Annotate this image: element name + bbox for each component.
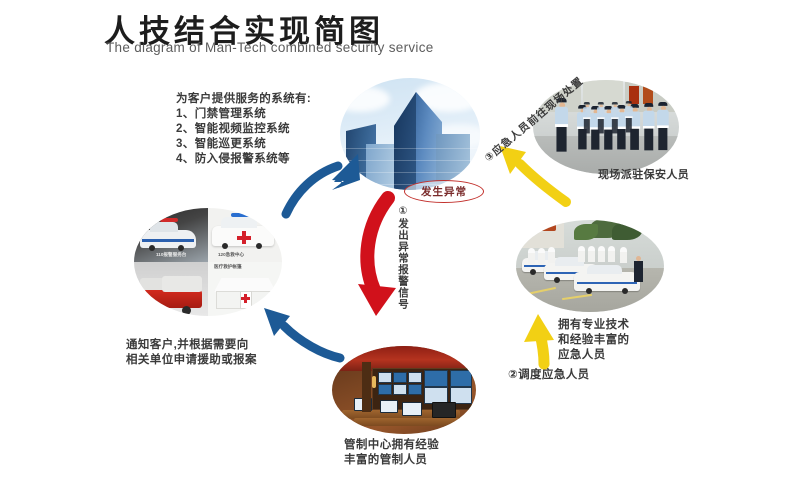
guards-caption: 现场派驻保安人员 bbox=[598, 168, 689, 183]
blue-arrow-to-emergency bbox=[256, 296, 346, 366]
diagram-canvas: 人技结合实现简图 The diagram of Man-Tech combine… bbox=[0, 0, 802, 477]
step2-label: ②调度应急人员 bbox=[508, 368, 590, 383]
patrol-cars-photo bbox=[516, 220, 664, 312]
emergency-caption: 通知客户,并根据需要向 相关单位申请援助或报案 bbox=[126, 338, 257, 368]
yellow-arrow-dispatch bbox=[510, 300, 580, 370]
page-subtitle-english: The diagram of Man-Tech combined securit… bbox=[106, 40, 434, 55]
red-arrow-alarm-signal bbox=[352, 192, 422, 322]
step1-label: ①发出异常报警信号 bbox=[396, 205, 411, 310]
control-center-photo bbox=[332, 346, 476, 434]
control-caption: 管制中心拥有经验 丰富的管制人员 bbox=[344, 438, 439, 468]
